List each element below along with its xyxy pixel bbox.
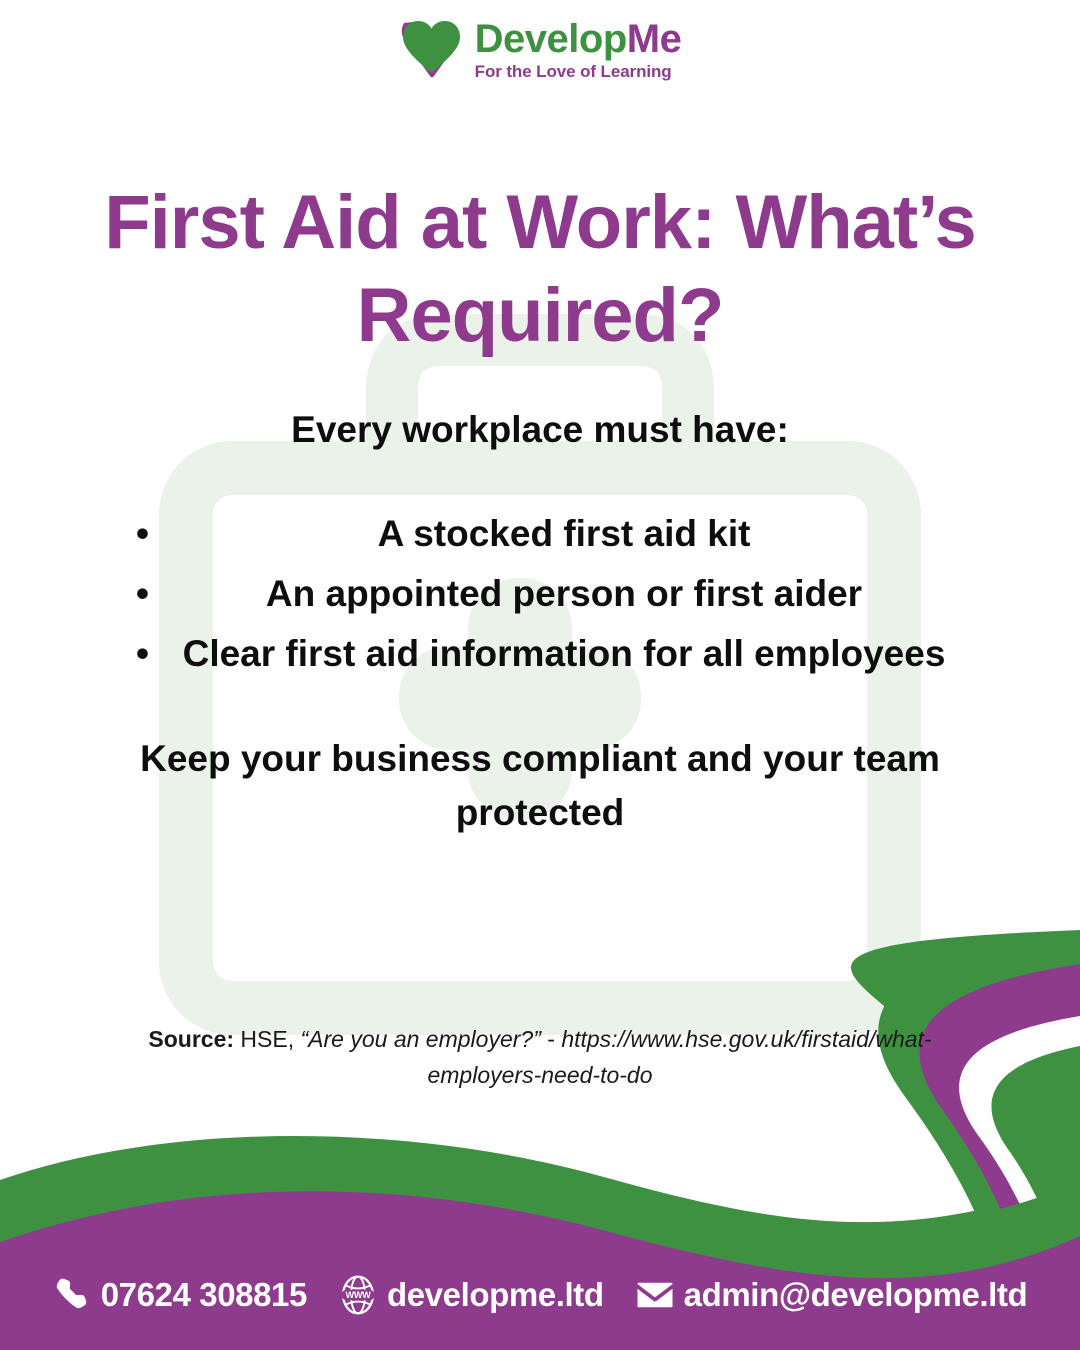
logo-wordmark-first: Develop <box>475 17 627 61</box>
lead-text: Every workplace must have: <box>90 408 990 452</box>
logo-tagline: For the Love of Learning <box>475 63 682 80</box>
source-publisher: HSE, <box>234 1026 300 1052</box>
contact-phone[interactable]: 07624 308815 <box>53 1275 307 1315</box>
body-content: Every workplace must have: • A stocked f… <box>90 408 990 839</box>
envelope-icon <box>634 1274 676 1316</box>
bullet-marker-icon: • <box>136 564 149 624</box>
phone-icon <box>53 1275 93 1315</box>
logo-wordmark-second: Me <box>627 17 682 61</box>
svg-text:WWW: WWW <box>346 1290 372 1300</box>
list-item: • Clear first aid information for all em… <box>90 624 990 684</box>
closing-statement: Keep your business compliant and your te… <box>90 732 990 839</box>
source-title: “Are you an employer?” <box>301 1026 541 1052</box>
heart-swoosh-icon <box>399 18 465 80</box>
logo-wordmark: DevelopMe <box>475 19 682 59</box>
contact-website-label: developme.ltd <box>387 1276 604 1314</box>
social-post-card: DevelopMe For the Love of Learning First… <box>0 0 1080 1350</box>
brand-logo: DevelopMe For the Love of Learning <box>0 18 1080 85</box>
source-separator: - <box>541 1026 555 1052</box>
list-item: • A stocked first aid kit <box>90 504 990 564</box>
source-label: Source: <box>148 1026 234 1052</box>
contact-phone-label: 07624 308815 <box>101 1276 307 1314</box>
contact-website[interactable]: WWW developme.ltd <box>337 1274 604 1316</box>
contact-email[interactable]: admin@developme.ltd <box>634 1274 1028 1316</box>
list-item-label: A stocked first aid kit <box>378 513 751 554</box>
requirements-list: • A stocked first aid kit • An appointed… <box>90 504 990 684</box>
contact-email-label: admin@developme.ltd <box>684 1276 1028 1314</box>
bullet-marker-icon: • <box>136 504 149 564</box>
globe-www-icon: WWW <box>337 1274 379 1316</box>
list-item-label: An appointed person or first aider <box>266 573 862 614</box>
source-citation: Source: HSE, “Are you an employer?” - ht… <box>120 1022 960 1093</box>
list-item: • An appointed person or first aider <box>90 564 990 624</box>
bullet-marker-icon: • <box>136 624 149 684</box>
contact-footer: 07624 308815 WWW developme.ltd admin@dev… <box>0 1240 1080 1350</box>
list-item-label: Clear first aid information for all empl… <box>183 633 946 674</box>
page-title: First Aid at Work: What’s Required? <box>40 177 1040 362</box>
